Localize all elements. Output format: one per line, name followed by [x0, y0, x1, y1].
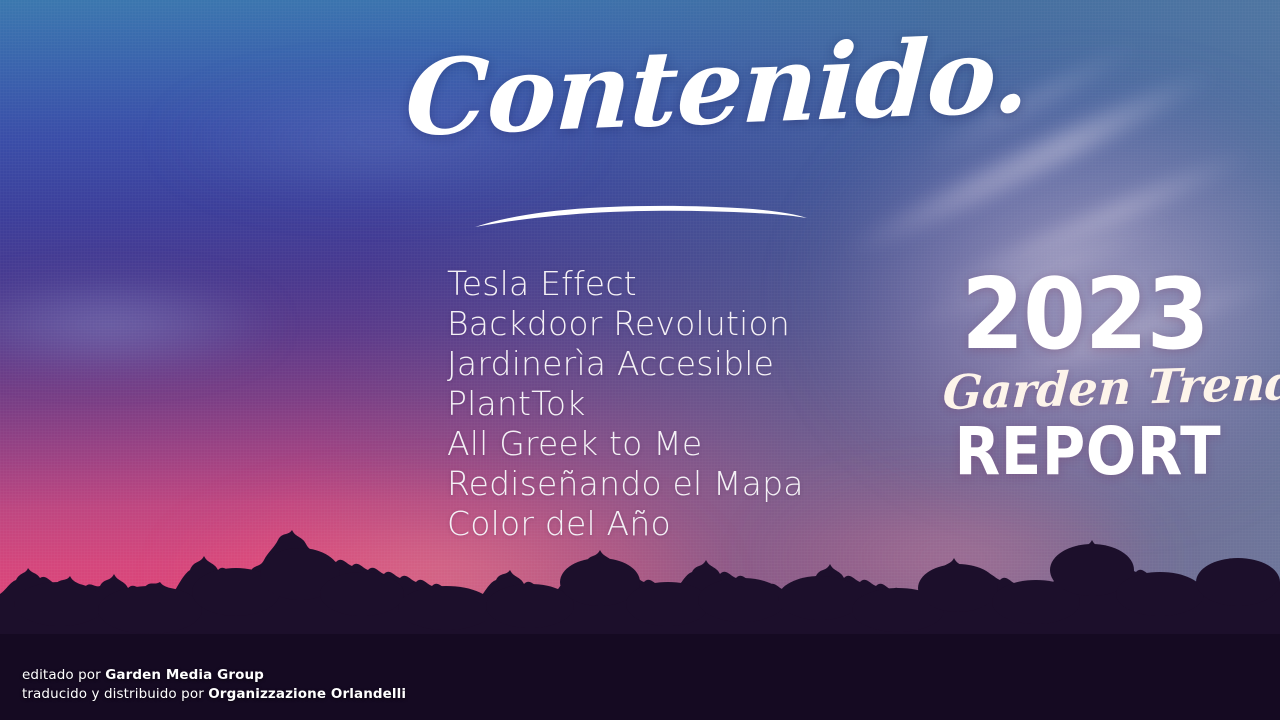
contents-list: Tesla Effect Backdoor Revolution Jardine… — [447, 264, 877, 544]
credit-editor-name: Garden Media Group — [105, 667, 264, 683]
logo-report-word: REPORT — [955, 419, 1216, 485]
logo-year: 2023 — [952, 268, 1219, 362]
list-item[interactable]: Jardinerìa Accesible — [447, 344, 877, 384]
credits-block: editado por Garden Media Group traducido… — [22, 666, 406, 704]
page-title-block: Contenido. — [405, 36, 925, 142]
list-item[interactable]: PlantTok — [447, 384, 877, 424]
credit-translator-prefix: traducido y distribuido por — [22, 686, 208, 702]
list-item[interactable]: Backdoor Revolution — [447, 304, 877, 344]
list-item[interactable]: Rediseñando el Mapa — [447, 464, 877, 504]
credit-line-translator: traducido y distribuido por Organizzazio… — [22, 685, 406, 704]
credit-line-editor: editado por Garden Media Group — [22, 666, 406, 685]
list-item[interactable]: Tesla Effect — [447, 264, 877, 304]
slide-canvas: Contenido. Tesla Effect Backdoor Revolut… — [0, 0, 1280, 720]
page-title: Contenido. — [403, 26, 928, 152]
list-item[interactable]: Color del Año — [447, 504, 877, 544]
logo-script-name: Garden Trends — [942, 362, 1229, 417]
credit-translator-name: Organizzazione Orlandelli — [208, 686, 406, 702]
report-logo-lockup: 2023 Garden Trends REPORT — [940, 268, 1230, 485]
cloud-wisp-left — [0, 250, 340, 400]
credit-editor-prefix: editado por — [22, 667, 105, 683]
list-item[interactable]: All Greek to Me — [447, 424, 877, 464]
